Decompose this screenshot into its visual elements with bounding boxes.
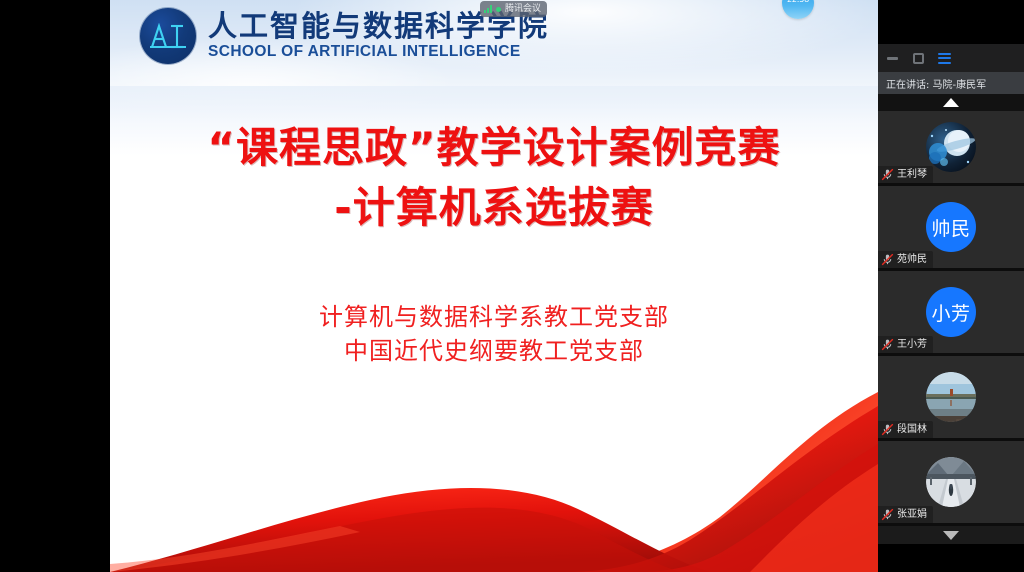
participant-tile[interactable]: 王利琴 (878, 111, 1024, 186)
red-silk-ribbon (110, 382, 878, 572)
participant-name: 王利琴 (897, 169, 927, 181)
participant-namebar: 苑帅民 (878, 251, 933, 268)
avatar-initials: 帅民 (931, 214, 970, 241)
lake-sunset-avatar-icon (926, 372, 976, 422)
slide-title-line2: -计算机系选拔赛 (110, 178, 878, 238)
avatar (926, 457, 976, 507)
snow-road-avatar-icon (926, 457, 976, 507)
chevron-up-icon (943, 98, 959, 107)
participant-tile[interactable]: 帅民 苑帅民 (878, 186, 1024, 271)
tencent-meeting-chip: 腾讯会议 (480, 1, 547, 17)
participant-panel: 正在讲话: 马院-康民军 (878, 44, 1024, 544)
panel-menu-button[interactable] (937, 51, 951, 65)
panel-titlebar (878, 44, 1024, 72)
avatar (926, 122, 976, 172)
microphone-muted-icon (881, 168, 894, 181)
shared-slide: 人工智能与数据科学学院 SCHOOL OF ARTIFICIAL INTELLI… (110, 0, 878, 572)
green-dot-icon (496, 7, 501, 12)
speaking-status-text: 正在讲话: 马院-康民军 (886, 76, 986, 91)
scroll-up-button[interactable] (878, 94, 1024, 111)
participant-name: 王小芳 (897, 339, 927, 351)
participant-tiles: 王利琴 帅民 苑帅民 (878, 111, 1024, 527)
participant-namebar: 王利琴 (878, 166, 933, 183)
minimize-button[interactable] (885, 51, 899, 65)
slide-subtitle-line2: 中国近代史纲要教工党支部 (110, 334, 878, 368)
ai-monogram-icon (140, 8, 196, 64)
participant-namebar: 王小芳 (878, 336, 933, 353)
microphone-muted-icon (881, 338, 894, 351)
ribbon-shape-icon (110, 382, 878, 572)
slide-subtitle-line1: 计算机与数据科学系教工党支部 (110, 300, 878, 334)
maximize-button[interactable] (911, 51, 925, 65)
participant-tile[interactable]: 小芳 王小芳 (878, 271, 1024, 356)
ai-letters-icon (149, 23, 187, 49)
meeting-chip-label: 腾讯会议 (505, 5, 541, 14)
avatar-initials: 小芳 (931, 299, 970, 326)
participant-tile[interactable]: 段国林 (878, 356, 1024, 441)
meeting-screen: 人工智能与数据科学学院 SCHOOL OF ARTIFICIAL INTELLI… (0, 0, 1024, 572)
planet-avatar-icon (926, 122, 976, 172)
slide-title: “课程思政”教学设计案例竞赛 -计算机系选拔赛 (110, 118, 878, 237)
avatar: 小芳 (926, 287, 976, 337)
avatar: 帅民 (926, 202, 976, 252)
maximize-icon (913, 53, 924, 64)
participant-namebar: 段国林 (878, 421, 933, 438)
slide-title-line1: “课程思政”教学设计案例竞赛 (110, 118, 878, 178)
school-logo-text: 人工智能与数据科学学院 SCHOOL OF ARTIFICIAL INTELLI… (208, 12, 549, 60)
microphone-muted-icon (881, 508, 894, 521)
participant-tile[interactable]: 张亚娟 (878, 441, 1024, 526)
microphone-muted-icon (881, 423, 894, 436)
participant-name: 张亚娟 (897, 509, 927, 521)
microphone-muted-icon (881, 253, 894, 266)
school-name-en: SCHOOL OF ARTIFICIAL INTELLIGENCE (208, 44, 549, 60)
meeting-timer-value: 22:58 (787, 0, 809, 19)
slide-subtitle: 计算机与数据科学系教工党支部 中国近代史纲要教工党支部 (110, 300, 878, 368)
participant-name: 苑帅民 (897, 254, 927, 266)
scroll-down-button[interactable] (878, 527, 1024, 544)
hamburger-menu-icon (938, 53, 951, 64)
signal-bars-icon (484, 5, 492, 13)
speaking-status-bar: 正在讲话: 马院-康民军 (878, 72, 1024, 94)
participant-name: 段国林 (897, 424, 927, 436)
participant-namebar: 张亚娟 (878, 506, 933, 523)
chevron-down-icon (943, 531, 959, 540)
avatar (926, 372, 976, 422)
minimize-icon (887, 57, 898, 60)
